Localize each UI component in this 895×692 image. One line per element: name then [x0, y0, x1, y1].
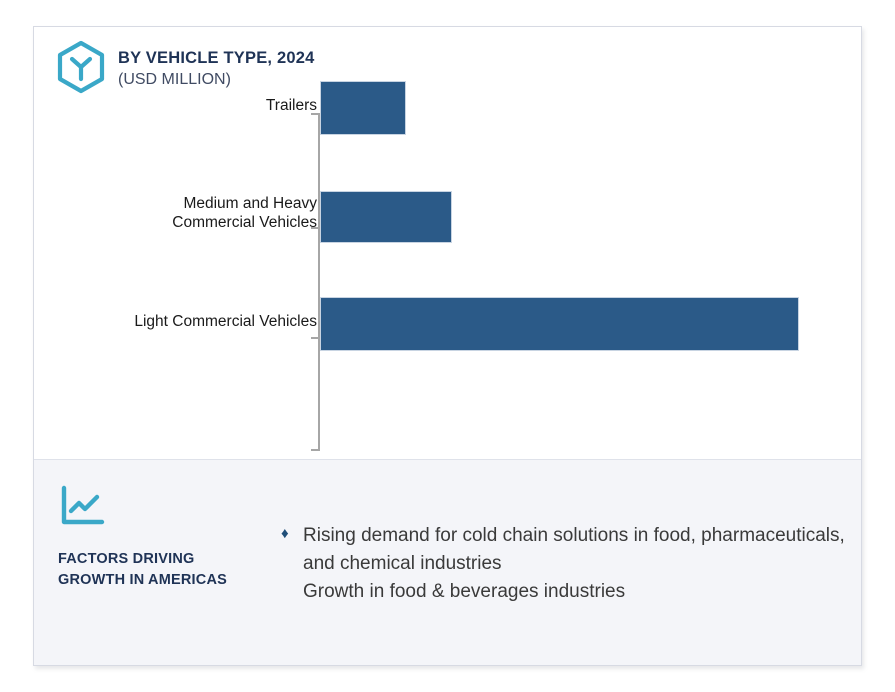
factors-left-column: FACTORS DRIVING GROWTH IN AMERICAS	[58, 484, 258, 591]
trend-chart-icon	[58, 484, 258, 528]
category-label-light-commercial: Light Commercial Vehicles	[134, 313, 317, 332]
axis-tick-2	[311, 337, 318, 339]
list-item: ♦ Rising demand for cold chain solutions…	[281, 522, 845, 578]
diamond-bullet-icon: ♦	[281, 522, 303, 545]
category-label-medium-heavy: Medium and Heavy Commercial Vehicles	[172, 195, 317, 233]
bar-light-commercial-vehicles	[320, 297, 799, 351]
category-axis-line	[318, 113, 320, 451]
axis-cap-bottom	[311, 449, 318, 451]
screenshot-root: BY VEHICLE TYPE, 2024 (USD MILLION) Trai…	[0, 0, 895, 692]
market-summary-card: BY VEHICLE TYPE, 2024 (USD MILLION) Trai…	[33, 26, 862, 666]
chart-panel: BY VEHICLE TYPE, 2024 (USD MILLION) Trai…	[34, 27, 861, 459]
list-item-text: Growth in food & beverages industries	[303, 578, 845, 606]
bar-medium-heavy-commercial-vehicles	[320, 191, 452, 243]
factors-bullet-list: ♦ Rising demand for cold chain solutions…	[281, 522, 845, 606]
factors-panel: FACTORS DRIVING GROWTH IN AMERICAS ♦ Ris…	[34, 459, 861, 665]
bar-chart-plot: Trailers Medium and Heavy Commercial Veh…	[34, 27, 863, 459]
factors-heading: FACTORS DRIVING GROWTH IN AMERICAS	[58, 549, 258, 591]
bar-trailers	[320, 81, 406, 135]
category-label-trailers: Trailers	[266, 97, 317, 116]
list-item-text: Rising demand for cold chain solutions i…	[303, 522, 845, 578]
